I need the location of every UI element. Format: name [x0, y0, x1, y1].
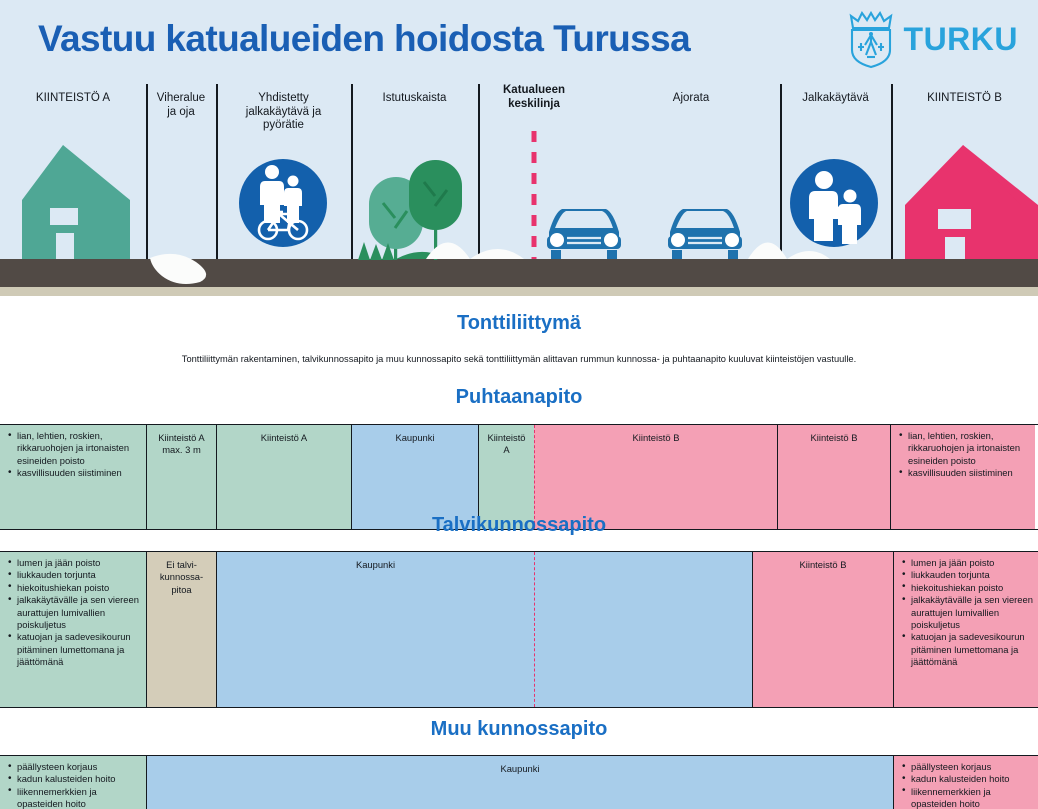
list-item: jalkakäytävälle ja sen viereen aurattuje… [911, 594, 1034, 631]
list-item: kasvillisuuden siistiminen [908, 467, 1031, 479]
list-item: päällysteen korjaus [911, 761, 1034, 773]
pink-house-icon [905, 145, 1038, 259]
list-item: lumen ja jään poisto [17, 557, 142, 569]
section-muu-kunnossapito: Muu kunnossapito päällysteen korjaus kad… [0, 718, 1038, 809]
cell-talvi-viheralue: Ei talvi-kunnossa-pitoa [146, 552, 216, 707]
section-title-muu-kunnossapito: Muu kunnossapito [0, 718, 1038, 741]
cell-talvi-kaupunki: Kaupunki [216, 552, 534, 707]
list-item: kasvillisuuden siistiminen [17, 467, 142, 479]
cell-talvi-kiinteisto-a-tasks: lumen ja jään poisto liukkauden torjunta… [0, 552, 146, 707]
cell-muu-kiinteisto-b-tasks: päällysteen korjaus kadun kalusteiden ho… [893, 756, 1038, 809]
list-item: katuojan ja sadevesikourun pitäminen lum… [17, 631, 142, 668]
list-item: jalkakäytävälle ja sen viereen aurattuje… [17, 594, 142, 631]
cell-talvi-kiinteisto-b-tasks: lumen ja jään poisto liukkauden torjunta… [893, 552, 1038, 707]
teal-house-icon [22, 145, 130, 259]
list-item: lian, lehtien, roskien, rikkaruohojen ja… [17, 430, 142, 467]
section-tonttiliittyma: Tonttiliittymä Tonttiliittymän rakentami… [0, 300, 1038, 366]
infographic-page: Vastuu katualueiden hoidosta Turussa TUR… [0, 0, 1038, 809]
bullet-list: lian, lehtien, roskien, rikkaruohojen ja… [897, 430, 1031, 480]
cell-muu-kaupunki: Kaupunki [146, 756, 893, 809]
list-item: päällysteen korjaus [17, 761, 142, 773]
cell-talvi-jalkakaytava: Kiinteistö B [752, 552, 893, 707]
section-talvikunnossapito: Talvikunnossapito lumen ja jään poisto l… [0, 514, 1038, 708]
cell-talvi-ajorata [534, 552, 752, 707]
list-item: lumen ja jään poisto [911, 557, 1034, 569]
section-lead-tonttiliittyma: Tonttiliittymän rakentaminen, talvikunno… [0, 353, 1038, 366]
list-item: liikennemerkkien ja opasteiden hoito [17, 786, 142, 809]
cell-muu-kiinteisto-a-tasks: päällysteen korjaus kadun kalusteiden ho… [0, 756, 146, 809]
section-title-tonttiliittyma: Tonttiliittymä [0, 312, 1038, 335]
table-row-muu-kunnossapito: päällysteen korjaus kadun kalusteiden ho… [0, 755, 1038, 809]
bullet-list: päällysteen korjaus kadun kalusteiden ho… [6, 761, 142, 809]
list-item: lian, lehtien, roskien, rikkaruohojen ja… [908, 430, 1031, 467]
snow-drift-icon [150, 254, 206, 284]
bullet-list: lumen ja jään poisto liukkauden torjunta… [6, 557, 142, 669]
list-item: hiekoitushiekan poisto [911, 582, 1034, 594]
pedestrian-and-bicycle-sign-icon [239, 159, 327, 247]
section-title-talvikunnossapito: Talvikunnossapito [0, 514, 1038, 537]
bullet-list: päällysteen korjaus kadun kalusteiden ho… [900, 761, 1034, 809]
list-item: kadun kalusteiden hoito [17, 773, 142, 785]
snow-pile-icon [748, 243, 830, 260]
list-item: kadun kalusteiden hoito [911, 773, 1034, 785]
list-item: hiekoitushiekan poisto [17, 582, 142, 594]
list-item: liukkauden torjunta [911, 569, 1034, 581]
list-item: katuojan ja sadevesikourun pitäminen lum… [911, 631, 1034, 668]
illustration-artwork [0, 0, 1038, 296]
street-cross-section-illustration: Vastuu katualueiden hoidosta Turussa TUR… [0, 0, 1038, 296]
two-cars-icon [547, 209, 742, 259]
list-item: liukkauden torjunta [17, 569, 142, 581]
table-row-talvikunnossapito: lumen ja jään poisto liukkauden torjunta… [0, 551, 1038, 708]
bullet-list: lumen ja jään poisto liukkauden torjunta… [900, 557, 1034, 669]
pedestrian-sign-icon [790, 159, 878, 247]
section-puhtaanapito: Puhtaanapito lian, lehtien, roskien, rik… [0, 386, 1038, 530]
list-item: liikennemerkkien ja opasteiden hoito [911, 786, 1034, 809]
bullet-list: lian, lehtien, roskien, rikkaruohojen ja… [6, 430, 142, 480]
section-title-puhtaanapito: Puhtaanapito [0, 386, 1038, 409]
trees-icon [358, 160, 524, 260]
